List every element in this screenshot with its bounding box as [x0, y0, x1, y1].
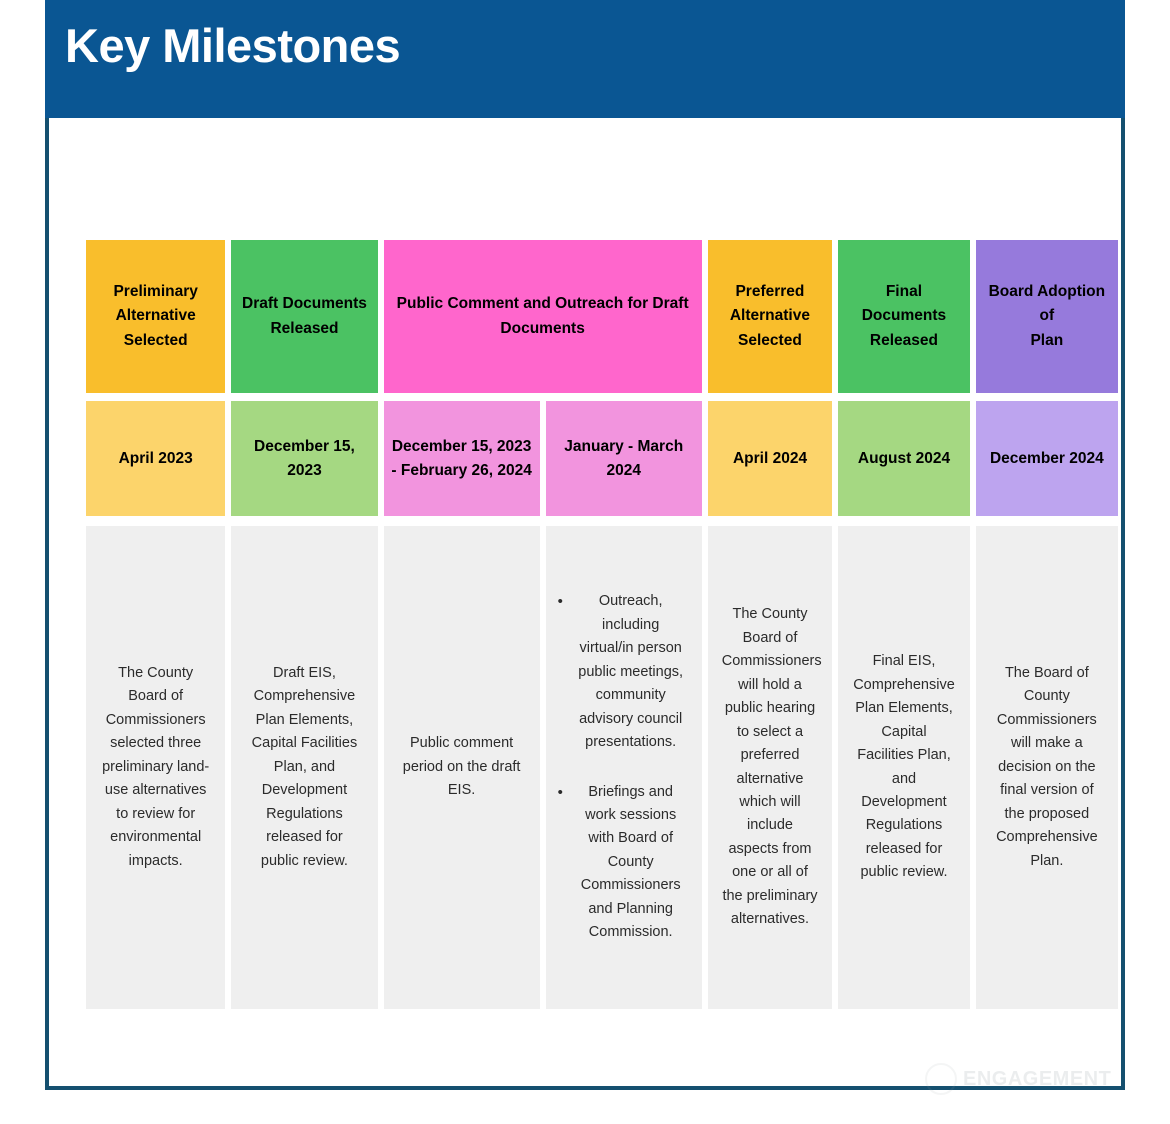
header-line: Plan [984, 329, 1110, 353]
description-text: Draft EIS, Comprehensive Plan Elements, … [245, 662, 363, 873]
milestone-date-january-march-2024[interactable]: January - March 2024 [546, 401, 702, 516]
list-item-text: Outreach, including virtual/in person pu… [578, 593, 683, 750]
header-line: Final Documents [846, 280, 961, 328]
milestone-description-public-comment-period: Public comment period on the draft EIS. [384, 526, 540, 1009]
header-line: Released [242, 317, 367, 341]
milestone-date-december-2024[interactable]: December 2024 [976, 401, 1118, 516]
description-text: The Board of County Commissioners will m… [990, 662, 1104, 873]
milestone-description-board-adoption: The Board of County Commissioners will m… [976, 526, 1118, 1009]
description-text: The County Board of Commissioners will h… [722, 603, 819, 932]
milestone-description-row: The County Board of Commissioners select… [86, 526, 1118, 1009]
milestone-description-preferred-alternative: The County Board of Commissioners will h… [708, 526, 833, 1009]
header-line: Preliminary [113, 280, 197, 304]
slide-canvas: Key Milestones Preliminary Alternative S… [0, 0, 1170, 1124]
milestone-date-row: April 2023 December 15, 2023 December 15… [86, 401, 1118, 516]
milestone-date-december-2023-february-2024[interactable]: December 15, 2023 - February 26, 2024 [384, 401, 540, 516]
bullet-icon: • [558, 781, 563, 805]
description-text: The County Board of Commissioners select… [100, 662, 211, 873]
list-item: • Briefings and work sessions with Board… [574, 781, 688, 945]
header-line: Alternative [113, 304, 197, 328]
title-band: Key Milestones [45, 0, 1125, 118]
milestone-header-draft-documents-released[interactable]: Draft Documents Released [231, 240, 377, 393]
description-bullet-list: • Outreach, including virtual/in person … [560, 590, 688, 945]
header-line: Selected [113, 329, 197, 353]
milestone-header-row: Preliminary Alternative Selected Draft D… [86, 240, 1118, 393]
milestone-header-public-comment-and-outreach[interactable]: Public Comment and Outreach for Draft Do… [384, 240, 702, 393]
list-item: • Outreach, including virtual/in person … [574, 590, 688, 754]
milestone-date-april-2023[interactable]: April 2023 [86, 401, 225, 516]
milestone-header-final-documents-released[interactable]: Final Documents Released [838, 240, 969, 393]
header-line: Alternative [730, 304, 810, 328]
milestone-date-december-15-2023[interactable]: December 15, 2023 [231, 401, 377, 516]
milestone-description-draft-documents: Draft EIS, Comprehensive Plan Elements, … [231, 526, 377, 1009]
header-line: Documents [397, 317, 689, 341]
header-line: Draft Documents [242, 292, 367, 316]
milestone-description-preliminary-alternative: The County Board of Commissioners select… [86, 526, 225, 1009]
milestone-header-preliminary-alternative-selected[interactable]: Preliminary Alternative Selected [86, 240, 225, 393]
milestone-date-august-2024[interactable]: August 2024 [838, 401, 969, 516]
header-line: Preferred [730, 280, 810, 304]
description-text: Public comment period on the draft EIS. [398, 732, 526, 802]
page-title: Key Milestones [65, 22, 400, 69]
milestone-header-preferred-alternative-selected[interactable]: Preferred Alternative Selected [708, 240, 833, 393]
bullet-icon: • [558, 590, 563, 614]
list-item-text: Briefings and work sessions with Board o… [581, 784, 681, 941]
milestone-date-april-2024[interactable]: April 2024 [708, 401, 833, 516]
description-text: Final EIS, Comprehensive Plan Elements, … [852, 650, 955, 885]
milestones-card: Key Milestones Preliminary Alternative S… [45, 0, 1125, 1090]
header-line: Public Comment and Outreach for Draft [397, 292, 689, 316]
header-line: Board Adoption of [984, 280, 1110, 328]
header-line: Selected [730, 329, 810, 353]
milestone-description-outreach-bullets: • Outreach, including virtual/in person … [546, 526, 702, 1009]
milestone-header-board-adoption-of-plan[interactable]: Board Adoption of Plan [976, 240, 1118, 393]
milestone-description-final-documents: Final EIS, Comprehensive Plan Elements, … [838, 526, 969, 1009]
milestones-grid: Preliminary Alternative Selected Draft D… [86, 240, 1118, 1009]
header-line: Released [846, 329, 961, 353]
